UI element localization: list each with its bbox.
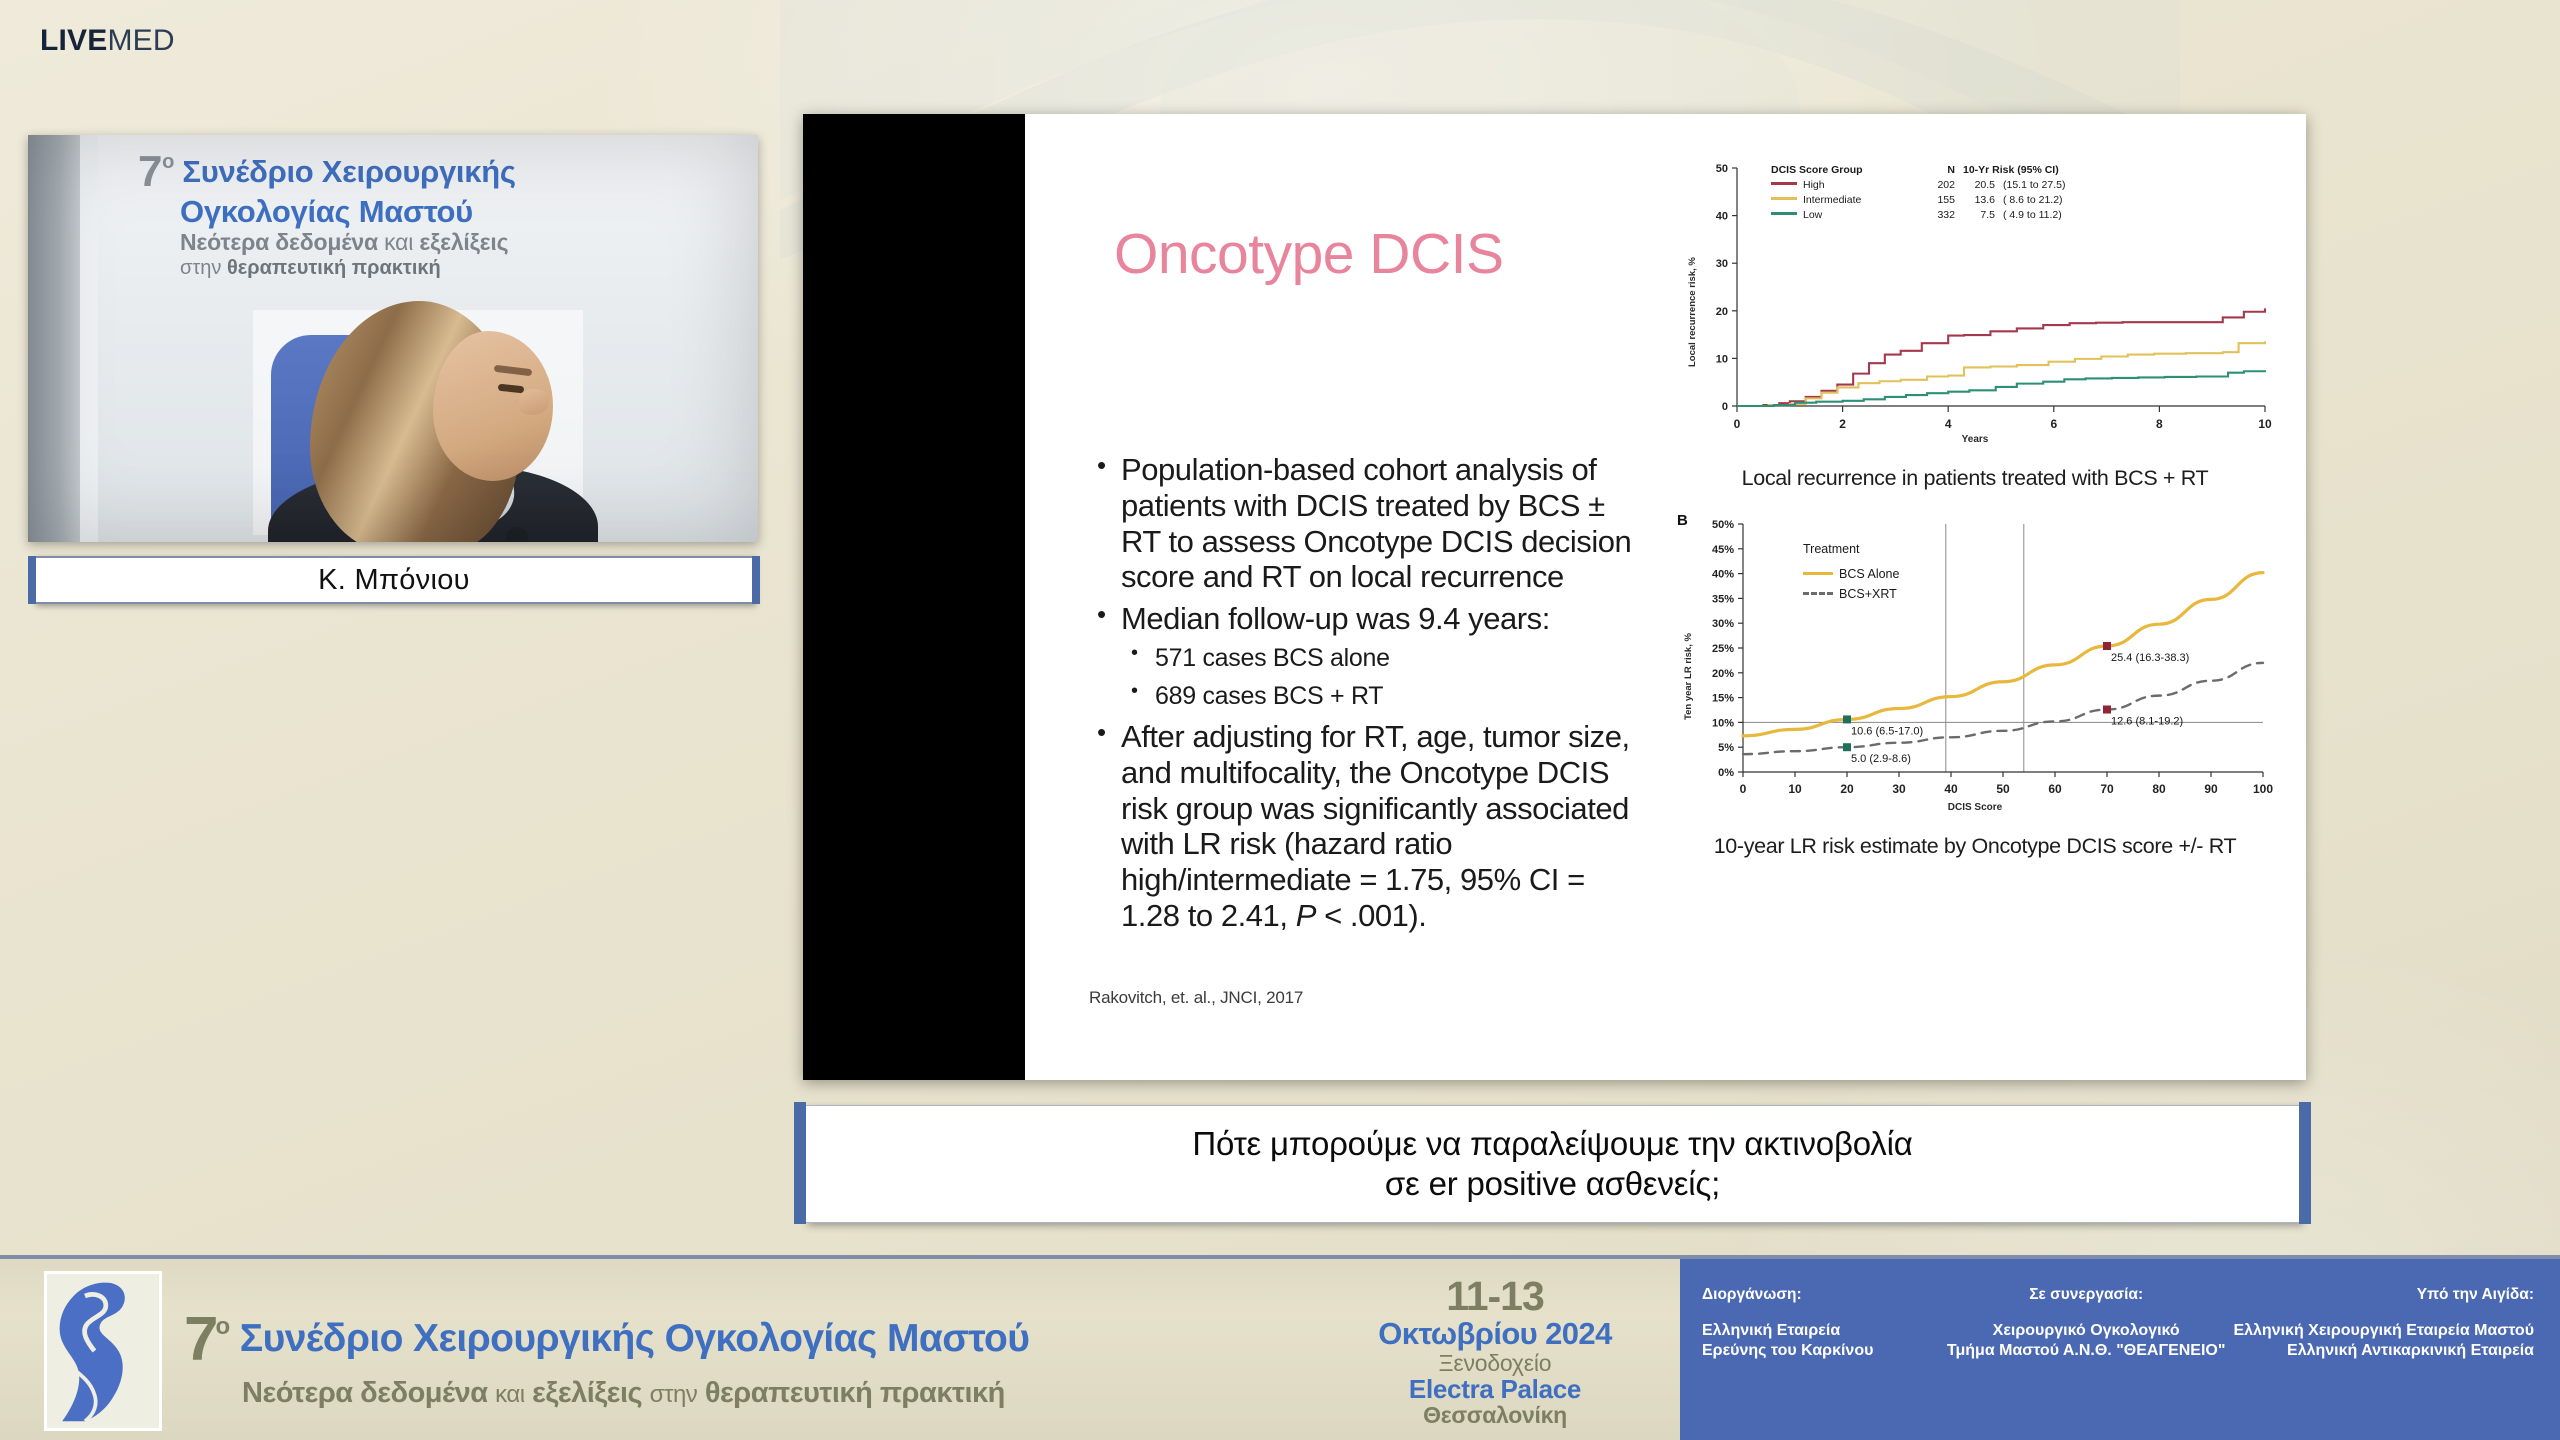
svg-text:50%: 50%: [1712, 519, 1734, 531]
svg-text:30%: 30%: [1712, 618, 1734, 630]
presentation-slide: Oncotype DCIS Population-based cohort an…: [1025, 114, 2306, 1080]
svg-text:10: 10: [1716, 353, 1728, 365]
speaker-name-plate: Κ. Μπόνιου: [34, 556, 754, 604]
legend-label-intermediate: Intermediate: [1803, 194, 1861, 206]
figure-caption-top: Local recurrence in patients treated wit…: [1665, 466, 2285, 491]
sponsor-head: Υπό την Αιγίδα:: [2233, 1285, 2534, 1305]
question-line-1: Πότε μπορούμε να παραλείψουμε την ακτινο…: [1192, 1124, 1912, 1164]
matisse-logo-icon: [44, 1271, 162, 1431]
chart-kaplan-meier: 010203040500246810 Local recurrence risk…: [1675, 152, 2275, 452]
legend-risk-low: 7.5: [1955, 209, 1995, 221]
slide-title: Oncotype DCIS: [1114, 221, 1504, 287]
slide-stage[interactable]: Oncotype DCIS Population-based cohort an…: [803, 114, 2306, 1080]
footer-title-line2: Νεότερα δεδομένα και εξελίξεις στην θερα…: [184, 1377, 1029, 1410]
footer-number: 7: [184, 1305, 215, 1374]
slide-reference: Rakovitch, et. al., JNCI, 2017: [1089, 988, 1303, 1008]
legend-row-intermediate: Intermediate15513.6( 8.6 to 21.2): [1771, 194, 2065, 206]
bullet-item: Population-based cohort analysis of pati…: [1089, 452, 1649, 595]
slide-bullet-list: Population-based cohort analysis of pati…: [1089, 452, 1649, 940]
svg-text:6: 6: [2050, 417, 2057, 431]
footer-date-day: 11-13: [1345, 1275, 1645, 1318]
chart-b-legend: Treatment BCS Alone BCS+XRT: [1803, 542, 1899, 601]
footer-sub-a: Νεότερα δεδομένα: [242, 1377, 488, 1409]
chart-a-legend: DCIS Score GroupN10-Yr Risk (95% CI) Hig…: [1771, 164, 2065, 221]
legend-label-high: High: [1803, 179, 1825, 191]
svg-text:60: 60: [2048, 782, 2062, 796]
svg-text:10%: 10%: [1712, 717, 1734, 729]
svg-text:25.4 (16.3-38.3): 25.4 (16.3-38.3): [2111, 652, 2189, 664]
svg-text:40: 40: [1716, 211, 1728, 223]
sponsor-line: Τμήμα Μαστού Α.Ν.Θ. "ΘΕΑΓΕΝΕΙΟ": [1947, 1341, 2226, 1361]
sponsor-column-organizer: Διοργάνωση: Ελληνική Εταιρεία Ερεύνης το…: [1702, 1285, 1939, 1440]
figure-caption-bottom: 10-year LR risk estimate by Oncotype DCI…: [1665, 834, 2285, 859]
chart-b-xlabel: DCIS Score: [1675, 802, 2275, 813]
svg-text:4: 4: [1945, 417, 1952, 431]
svg-text:30: 30: [1892, 782, 1906, 796]
sponsor-column-collaboration: Σε συνεργασία: Χειρουργικό Ογκολογικό Τμ…: [1947, 1285, 2226, 1440]
svg-text:20: 20: [1840, 782, 1854, 796]
footer-sponsors: Διοργάνωση: Ελληνική Εταιρεία Ερεύνης το…: [1680, 1259, 2560, 1440]
footer-venue-name: Electra Palace: [1345, 1376, 1645, 1404]
legend-risk-high: 20.5: [1955, 179, 1995, 191]
speaker-video-frame: 7ο Συνέδριο Χειρουργικής Ογκολογίας Μαστ…: [28, 135, 758, 542]
video-vignette: [28, 135, 758, 542]
chart-b-legend-title: Treatment: [1803, 542, 1899, 556]
svg-text:20: 20: [1716, 306, 1728, 318]
svg-text:10: 10: [2258, 417, 2272, 431]
bullet-item: 689 cases BCS + RT: [1089, 681, 1649, 711]
footer-sub-c: εξελίξεις: [532, 1377, 642, 1409]
svg-text:0: 0: [1734, 417, 1741, 431]
svg-text:70: 70: [2100, 782, 2114, 796]
question-banner: Πότε μπορούμε να παραλείψουμε την ακτινο…: [805, 1105, 2300, 1223]
svg-text:50: 50: [1716, 163, 1728, 175]
bullet-last-post: < .001).: [1316, 898, 1427, 933]
svg-text:0: 0: [1740, 782, 1747, 796]
footer-sub-b: και: [495, 1381, 524, 1408]
question-line-2: σε er positive ασθενείς;: [1385, 1164, 1720, 1204]
footer-bar: 7ο Συνέδριο Χειρουργικής Ογκολογίας Μαστ…: [0, 1255, 2560, 1440]
sponsor-column-auspices: Υπό την Αιγίδα: Ελληνική Χειρουργική Ετα…: [2233, 1285, 2534, 1440]
svg-text:90: 90: [2204, 782, 2218, 796]
legend-row-high: High20220.5(15.1 to 27.5): [1771, 179, 2065, 191]
chart-b-legend-bcs: BCS Alone: [1803, 567, 1899, 581]
svg-text:0%: 0%: [1718, 767, 1734, 779]
sponsor-line: Ελληνική Χειρουργική Εταιρεία Μαστού: [2233, 1321, 2534, 1341]
legend-n-intermediate: 155: [1921, 194, 1955, 206]
footer-title-main: Συνέδριο Χειρουργικής Ογκολογίας Μαστού: [240, 1317, 1030, 1360]
svg-text:15%: 15%: [1712, 693, 1734, 705]
footer-sub-d: στην: [650, 1381, 698, 1408]
bullet-item: 571 cases BCS alone: [1089, 643, 1649, 673]
legend-n-high: 202: [1921, 179, 1955, 191]
footer-number-sup: ο: [215, 1313, 229, 1340]
svg-text:100: 100: [2253, 782, 2273, 796]
matisse-figure: [47, 1274, 159, 1428]
svg-text:80: 80: [2152, 782, 2166, 796]
legend-ci-high: (15.1 to 27.5): [2003, 179, 2065, 191]
svg-text:10.6 (6.5-17.0): 10.6 (6.5-17.0): [1851, 725, 1923, 737]
chart-b-legend-xrt-label: BCS+XRT: [1839, 587, 1897, 601]
legend-ci-low: ( 4.9 to 11.2): [2003, 209, 2062, 221]
legend-col-risk: 10-Yr Risk (95% CI): [1963, 164, 2059, 176]
svg-text:20%: 20%: [1712, 668, 1734, 680]
sponsor-head: Διοργάνωση:: [1702, 1285, 1939, 1305]
svg-text:25%: 25%: [1712, 643, 1734, 655]
brand-logo[interactable]: LIVEMED: [40, 26, 175, 56]
svg-text:0: 0: [1722, 401, 1728, 413]
chart-b-svg: 0%5%10%15%20%25%30%35%40%45%50%010203040…: [1675, 510, 2275, 820]
chart-a-ylabel: Local recurrence risk, %: [1687, 257, 1698, 367]
legend-ci-intermediate: ( 8.6 to 21.2): [2003, 194, 2063, 206]
sponsor-line: Ερεύνης του Καρκίνου: [1702, 1341, 1939, 1361]
footer-date-month: Οκτωβρίου 2024: [1345, 1318, 1645, 1351]
sponsor-head: Σε συνεργασία:: [1947, 1285, 2226, 1305]
speaker-video-panel[interactable]: 7ο Συνέδριο Χειρουργικής Ογκολογίας Μαστ…: [28, 135, 758, 542]
svg-text:10: 10: [1788, 782, 1802, 796]
legend-row-low: Low3327.5( 4.9 to 11.2): [1771, 209, 2065, 221]
bullet-last-italic: P: [1296, 898, 1316, 933]
svg-text:50: 50: [1996, 782, 2010, 796]
bullet-item-last: After adjusting for RT, age, tumor size,…: [1089, 719, 1649, 934]
footer-city: Θεσσαλονίκη: [1345, 1403, 1645, 1427]
chart-b-legend-bcs-label: BCS Alone: [1839, 567, 1899, 581]
svg-text:2: 2: [1839, 417, 1846, 431]
footer-sub-e: θεραπευτική πρακτική: [705, 1377, 1005, 1409]
svg-text:8: 8: [2156, 417, 2163, 431]
svg-text:35%: 35%: [1712, 593, 1734, 605]
svg-text:30: 30: [1716, 258, 1728, 270]
legend-risk-intermediate: 13.6: [1955, 194, 1995, 206]
chart-b-ylabel: Ten year LR risk, %: [1683, 633, 1694, 720]
svg-text:40: 40: [1944, 782, 1958, 796]
chart-b-legend-xrt: BCS+XRT: [1803, 587, 1899, 601]
sponsor-line: Ελληνική Αντικαρκινική Εταιρεία: [2233, 1341, 2534, 1361]
sponsor-line: Χειρουργικό Ογκολογικό: [1947, 1321, 2226, 1341]
legend-col-n: N: [1921, 164, 1955, 176]
footer-title-block: 7ο Συνέδριο Χειρουργικής Ογκολογίας Μαστ…: [184, 1304, 1029, 1410]
footer-date-block: 11-13 Οκτωβρίου 2024 Ξενοδοχείο Electra …: [1345, 1275, 1645, 1428]
chart-a-xlabel: Years: [1675, 434, 2275, 445]
svg-text:40%: 40%: [1712, 569, 1734, 581]
page-background: LIVEMED 7ο Συνέδριο Χειρουργικής Ογκολογ…: [0, 0, 2560, 1440]
footer-venue-label: Ξενοδοχείο: [1345, 1351, 1645, 1375]
svg-text:5.0 (2.9-8.6): 5.0 (2.9-8.6): [1851, 753, 1911, 765]
svg-text:45%: 45%: [1712, 544, 1734, 556]
svg-text:12.6 (8.1-19.2): 12.6 (8.1-19.2): [2111, 716, 2183, 728]
chart-b-panel-letter: B: [1677, 512, 1688, 529]
chart-ten-year-lr-risk: 0%5%10%15%20%25%30%35%40%45%50%010203040…: [1675, 510, 2275, 820]
svg-text:5%: 5%: [1718, 742, 1734, 754]
legend-col-group: DCIS Score Group: [1771, 164, 1921, 176]
legend-n-low: 332: [1921, 209, 1955, 221]
footer-branding: 7ο Συνέδριο Χειρουργικής Ογκολογίας Μαστ…: [44, 1271, 1029, 1431]
brand-light: MED: [107, 24, 174, 57]
bullet-item: Median follow-up was 9.4 years:: [1089, 601, 1649, 637]
brand-bold: LIVE: [40, 24, 107, 57]
sponsor-line: Ελληνική Εταιρεία: [1702, 1321, 1939, 1341]
figure-column: 010203040500246810 Local recurrence risk…: [1665, 144, 2285, 1074]
speaker-name: Κ. Μπόνιου: [318, 564, 470, 597]
legend-label-low: Low: [1803, 209, 1822, 221]
legend-header-row: DCIS Score GroupN10-Yr Risk (95% CI): [1771, 164, 2065, 176]
footer-title-line1: 7ο Συνέδριο Χειρουργικής Ογκολογίας Μαστ…: [184, 1304, 1029, 1375]
